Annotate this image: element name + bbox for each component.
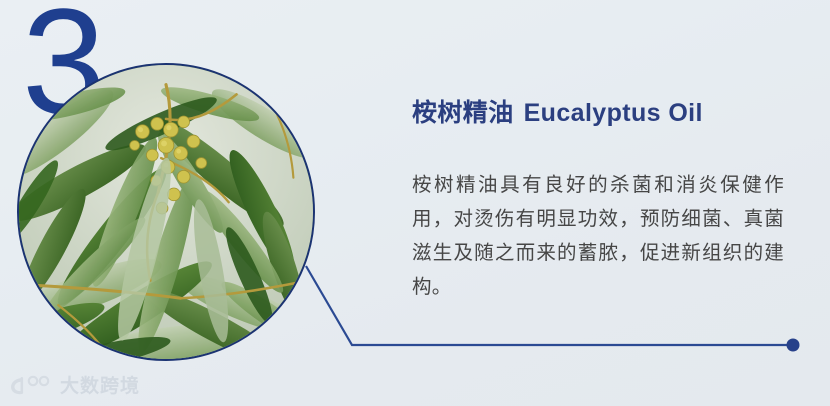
body-paragraph: 桉树精油具有良好的杀菌和消炎保健作用，对烫伤有明显功效，预防细菌、真菌滋生及随之… [412, 128, 784, 304]
watermark: 大数跨境 [8, 371, 140, 398]
leaf-illustration [19, 65, 313, 359]
title-chinese: 桉树精油 [412, 99, 514, 127]
watermark-text: 大数跨境 [60, 371, 140, 398]
brand-logo-icon [8, 374, 54, 396]
page-title: 桉树精油Eucalyptus Oil [412, 98, 790, 128]
connector-endpoint-dot [787, 339, 800, 352]
eucalyptus-leaves-photo [17, 63, 315, 361]
title-english: Eucalyptus Oil [524, 99, 703, 127]
promotional-slide: 3 [0, 0, 830, 406]
text-block: 桉树精油Eucalyptus Oil 桉树精油具有良好的杀菌和消炎保健作用，对烫… [412, 98, 790, 304]
